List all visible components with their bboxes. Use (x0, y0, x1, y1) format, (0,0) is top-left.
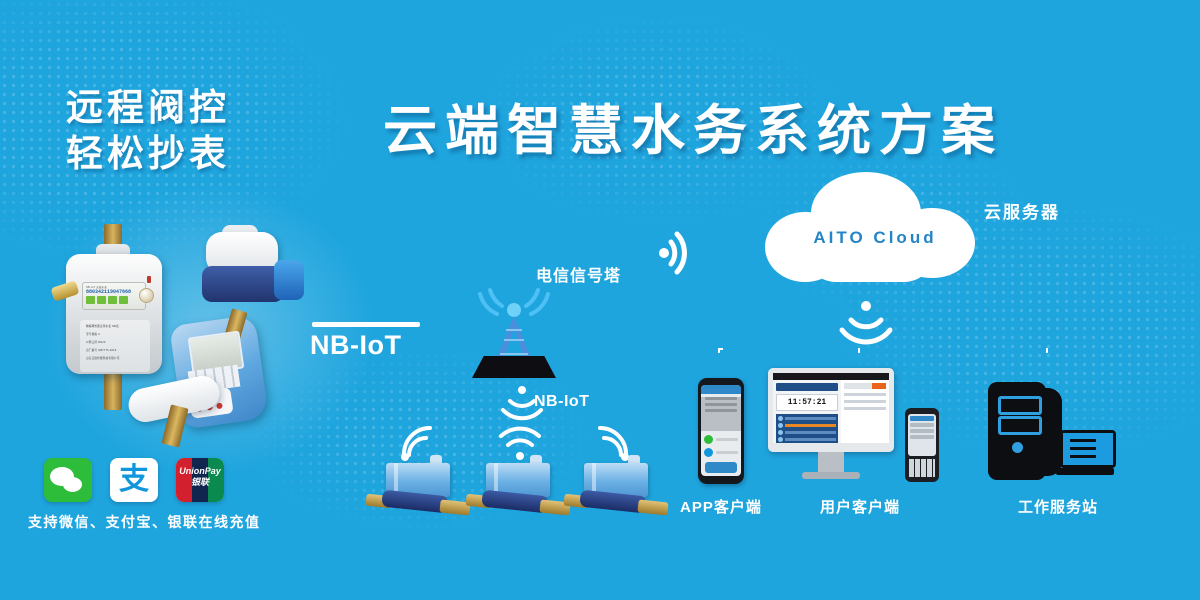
laptop-base (1056, 468, 1114, 475)
phone-screen (701, 385, 741, 476)
phone-header-bar (701, 385, 741, 394)
bus-drop-workstation (1046, 348, 1048, 384)
headline-line-1: 远程阀控 (66, 85, 230, 131)
telecom-tower-icon (466, 270, 562, 382)
monitor-list-item (778, 437, 836, 442)
payment-methods-row: 支 UnionPay 银联 (44, 458, 224, 502)
field-water-meter (468, 455, 572, 521)
alipay-glyph: 支 (119, 465, 149, 495)
laptop-text-line (1070, 439, 1096, 442)
monitor-left-pane: 11:57:21 (773, 380, 841, 443)
phone-confirm-button[interactable] (705, 462, 737, 473)
terminal-line (910, 429, 934, 433)
laptop-screen (1060, 430, 1116, 468)
monitor-screen: 11:57:21 (773, 373, 889, 443)
phone-option-line (716, 451, 738, 454)
bus-drop-monitor (858, 348, 860, 370)
monitor-bezel: 11:57:21 (768, 368, 894, 452)
unionpay-icon[interactable]: UnionPay 银联 (176, 458, 224, 502)
cloud-shape (765, 172, 975, 282)
terminal-screen (908, 414, 936, 456)
handheld-terminal-icon (905, 408, 939, 482)
pc-power-button[interactable] (1012, 442, 1023, 453)
valve-cap (274, 260, 304, 300)
meter-plate-line-3: 公称口径 DN20 (86, 340, 150, 344)
meter-knob (139, 288, 154, 303)
meter-led-indicator (147, 276, 151, 283)
meter-lcd-display: NB-IoT 无线水表 880342119047668 (82, 282, 146, 310)
phone-info-line (705, 403, 737, 406)
terminal-line (910, 423, 934, 427)
meter-plate-line-2: 型号规格 A (86, 332, 150, 336)
terminal-keypad (909, 459, 935, 477)
nbiot-primary-label: NB-IoT (310, 330, 401, 361)
headline-line-2: 轻松抄表 (66, 131, 230, 177)
tower-label: 电信信号塔 (536, 262, 621, 286)
phone-option-row (704, 448, 738, 457)
meter-display-serial: 880342119047668 (86, 289, 145, 295)
list-bullet (778, 423, 783, 428)
nbiot-underline-bar (312, 322, 420, 327)
monitor-right-pane (841, 380, 889, 443)
phone-alipay-icon (704, 448, 713, 457)
cloud-label: 云服务器 (984, 198, 1060, 223)
laptop-text-line (1070, 447, 1096, 450)
monitor-data-row (844, 393, 886, 396)
monitor-list-item (778, 423, 836, 428)
meter-display-icons (86, 296, 145, 304)
phone-option-row (704, 435, 738, 444)
meter-housing-white (128, 372, 228, 448)
wechat-icon[interactable] (44, 458, 92, 502)
meter-display-icon (108, 296, 117, 304)
uplink-signal-icon (655, 218, 725, 288)
pc-drive-bay (998, 416, 1042, 435)
desktop-monitor-icon: 11:57:21 (768, 368, 894, 488)
monitor-data-row (844, 407, 886, 410)
workstation-icon (988, 382, 1108, 486)
monitor-action-button[interactable] (872, 383, 886, 389)
client-label-app: APP客户端 (680, 496, 762, 517)
unionpay-wordmark: UnionPay 银联 (178, 466, 222, 488)
meter-plate-line-5: 山东艾欧智能科技有限公司 (86, 356, 150, 360)
monitor-toolbar (844, 383, 886, 389)
monitor-content: 11:57:21 (773, 380, 889, 443)
field-water-meter (566, 455, 670, 521)
monitor-clock: 11:57:21 (776, 394, 838, 411)
meter-pipe-bottom (104, 368, 122, 410)
nbiot-secondary-label: NB-IoT (534, 393, 589, 411)
monitor-foot (802, 472, 860, 479)
phone-option-line (716, 438, 738, 441)
unionpay-label-top: UnionPay (179, 466, 221, 476)
list-bullet (778, 430, 783, 435)
laptop-icon (1060, 430, 1114, 472)
pc-drive-bay (998, 396, 1042, 415)
list-line (785, 417, 836, 420)
monitor-device-list (776, 414, 838, 443)
cloud-name: AITO Cloud (800, 228, 950, 248)
client-label-user: 用户客户端 (820, 496, 900, 517)
terminal-header (910, 416, 934, 421)
valve-body (202, 266, 284, 302)
monitor-panel-title (776, 383, 838, 391)
downlink-signal-icon (833, 300, 899, 350)
list-line (785, 431, 836, 434)
list-bullet (778, 416, 783, 421)
laptop-screen-content (1063, 433, 1113, 465)
meter-display-icon (86, 296, 95, 304)
unionpay-label-bottom: 银联 (191, 477, 209, 487)
alipay-icon[interactable]: 支 (110, 458, 158, 502)
meter-plate-line-1: 物联网智能远传水表 NB表 (86, 324, 150, 328)
field-water-meter (368, 455, 472, 521)
list-line (785, 424, 836, 427)
page-title: 云端智慧水务系统方案 (383, 86, 1003, 165)
list-line (785, 438, 836, 441)
meter-body: NB-IoT 无线水表 880342119047668 物联网智能远传水表 NB… (66, 254, 162, 374)
phone-info-line (705, 409, 737, 412)
meter-pipe-right (637, 499, 668, 515)
meter-spec-plate: 物联网智能远传水表 NB表 型号规格 A 公称口径 DN20 出厂编号 GB77… (80, 320, 150, 372)
headline-block: 远程阀控 轻松抄表 (66, 85, 230, 177)
client-label-workstation: 工作服务站 (1018, 496, 1098, 517)
payment-caption: 支持微信、支付宝、银联在线充值 (28, 512, 261, 532)
phone-info-line (705, 397, 737, 400)
phone-info-panel (701, 397, 741, 431)
monitor-data-row (844, 400, 886, 403)
banner-canvas: 远程阀控 轻松抄表 云端智慧水务系统方案 NB-IoT 无线水表 8803421… (0, 0, 1200, 600)
laptop-text-line (1070, 455, 1096, 458)
monitor-stand (818, 452, 844, 472)
list-bullet (778, 437, 783, 442)
meter-display-icon (97, 296, 106, 304)
meter-plate-line-4: 出厂编号 GB7776-2019 (86, 348, 150, 352)
monitor-list-item (778, 430, 836, 435)
pc-tower (988, 382, 1046, 480)
wechat-bubble-small (63, 477, 82, 492)
monitor-list-item (778, 416, 836, 421)
monitor-title-bar (773, 373, 889, 380)
meter-display-icon (119, 296, 128, 304)
smartphone-icon (698, 378, 744, 484)
bus-line-horizontal (718, 348, 1048, 350)
terminal-line (910, 435, 934, 439)
bus-drop-app (718, 348, 720, 382)
phone-wechat-pay-icon (704, 435, 713, 444)
tower-base (472, 356, 556, 378)
